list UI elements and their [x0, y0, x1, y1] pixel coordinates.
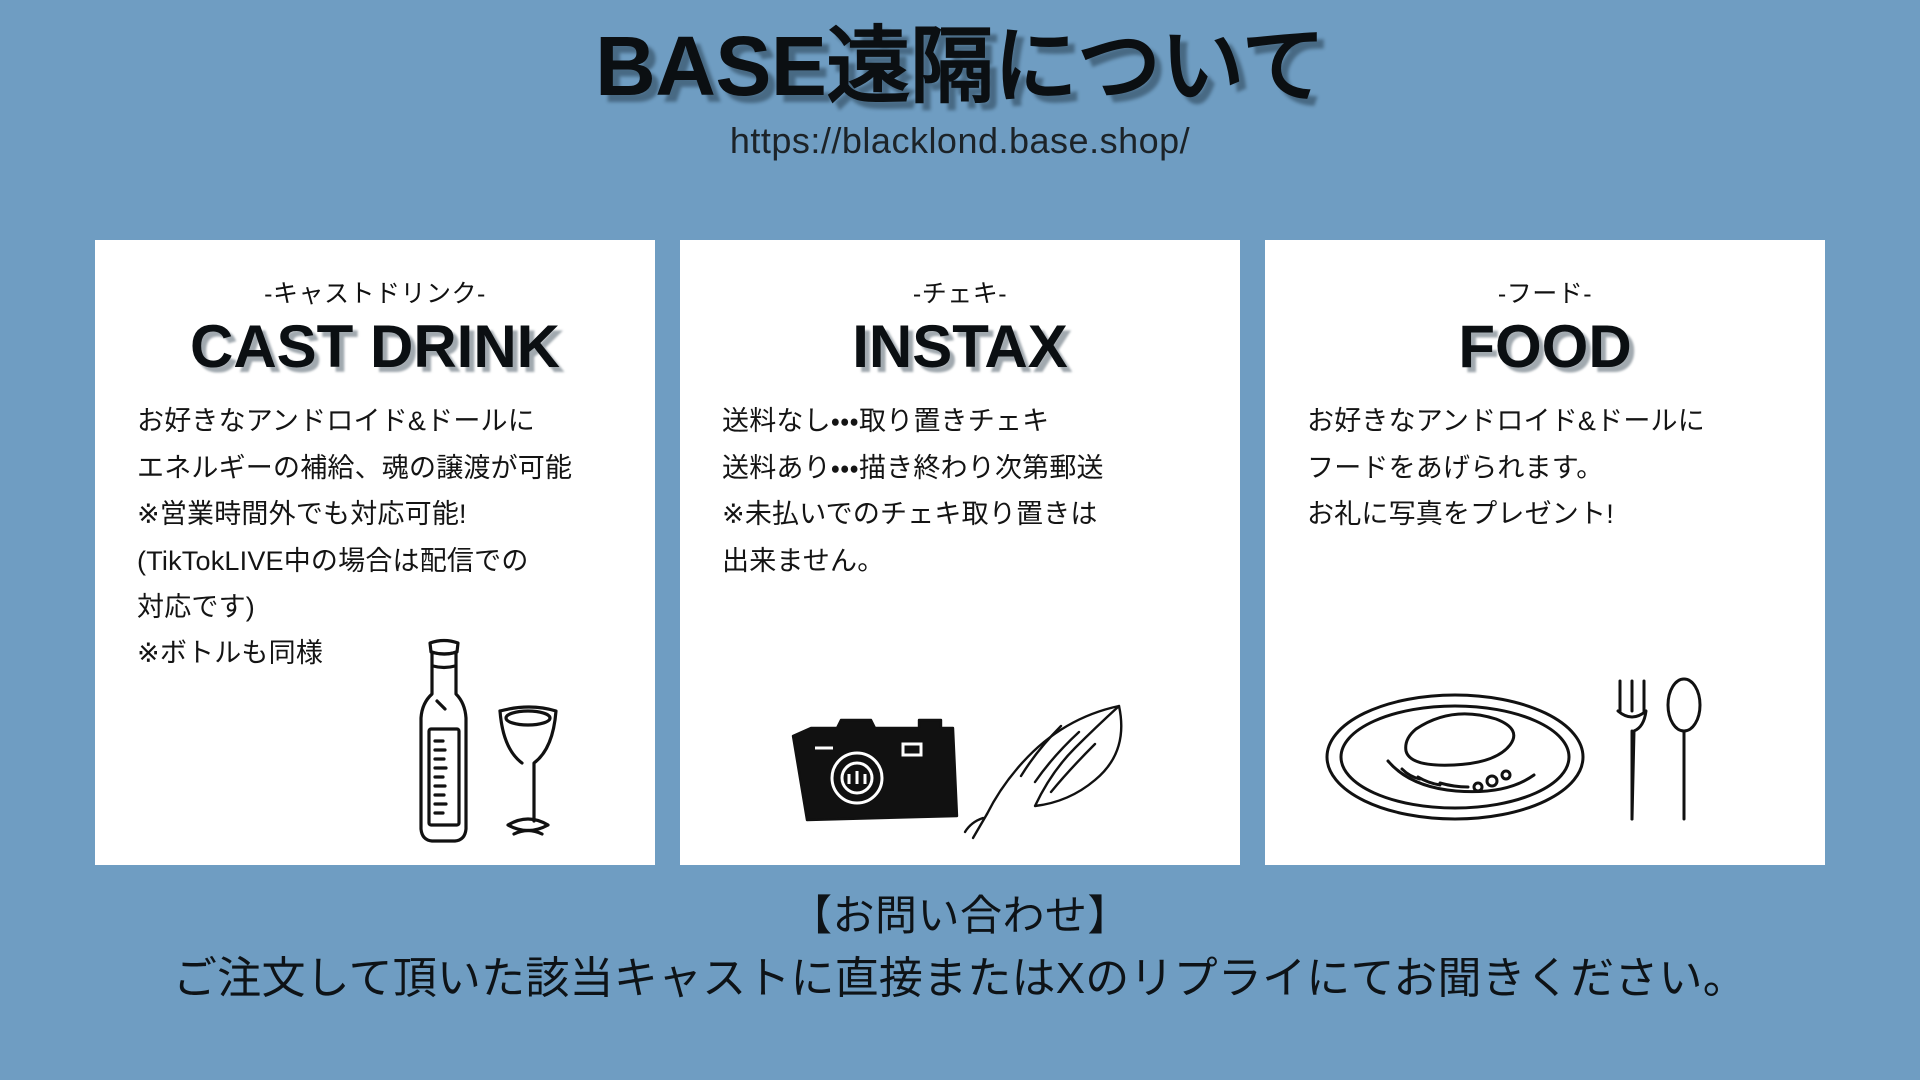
description-line: ※未払いでのチェキ取り置きは: [722, 491, 1200, 537]
description-line: お礼に写真をプレゼント!: [1307, 491, 1785, 537]
description-line: (TikTokLIVE中の場合は配信での: [137, 538, 615, 584]
card-title: CAST DRINK: [95, 313, 655, 380]
card-food: -フード- FOOD お好きなアンドロイド&ドールに フードをあげられます。 お…: [1265, 240, 1825, 865]
description-line: お好きなアンドロイド&ドールに: [1307, 398, 1785, 444]
shop-url[interactable]: https://blacklond.base.shop/: [0, 120, 1920, 162]
description-line: ※営業時間外でも対応可能!: [137, 491, 615, 537]
description-line: お好きなアンドロイド&ドールに: [137, 398, 615, 444]
camera-and-feather-icon: [785, 700, 1135, 845]
card-header: -キャストドリンク- CAST DRINK: [95, 240, 655, 380]
footer: 【お問い合わせ】 ご注文して頂いた該当キャストに直接またはXのリプライにてお聞き…: [0, 890, 1920, 1006]
card-header: -フード- FOOD: [1265, 240, 1825, 380]
slide-canvas: BASE遠隔について https://blacklond.base.shop/ …: [0, 0, 1920, 1080]
plate-fork-spoon-icon: [1320, 677, 1710, 827]
description-line: ※ボトルも同様: [137, 630, 615, 676]
card-kicker-japanese: -フード-: [1265, 282, 1825, 307]
description-line: エネルギーの補給、魂の譲渡が可能: [137, 445, 615, 491]
card-title: FOOD: [1265, 313, 1825, 380]
card-header: -チェキ- INSTAX: [680, 240, 1240, 380]
card-instax: -チェキ- INSTAX 送料なし・・・取り置きチェキ 送料あり・・・描き終わり…: [680, 240, 1240, 865]
description-line: 送料なし・・・取り置きチェキ: [722, 398, 1200, 444]
card-title: INSTAX: [680, 313, 1240, 380]
card-description: お好きなアンドロイド&ドールに フードをあげられます。 お礼に写真をプレゼント!: [1265, 398, 1825, 537]
card-description: 送料なし・・・取り置きチェキ 送料あり・・・描き終わり次第郵送 ※未払いでのチェ…: [680, 398, 1240, 584]
header: BASE遠隔について https://blacklond.base.shop/: [0, 22, 1920, 162]
description-line: フードをあげられます。: [1307, 445, 1785, 491]
description-line: 出来ません。: [722, 538, 1200, 584]
card-row: -キャストドリンク- CAST DRINK お好きなアンドロイド&ドールに エネ…: [95, 240, 1825, 865]
card-kicker-japanese: -キャストドリンク-: [95, 282, 655, 307]
page-title: BASE遠隔について: [0, 22, 1920, 110]
card-cast-drink: -キャストドリンク- CAST DRINK お好きなアンドロイド&ドールに エネ…: [95, 240, 655, 865]
card-kicker-japanese: -チェキ-: [680, 282, 1240, 307]
description-line: 対応です): [137, 584, 615, 630]
description-line: 送料あり・・・描き終わり次第郵送: [722, 445, 1200, 491]
footer-heading: 【お問い合わせ】: [0, 890, 1920, 943]
card-description: お好きなアンドロイド&ドールに エネルギーの補給、魂の譲渡が可能 ※営業時間外で…: [95, 398, 655, 677]
footer-note: ご注文して頂いた該当キャストに直接またはXのリプライにてお聞きください。: [0, 951, 1920, 1006]
